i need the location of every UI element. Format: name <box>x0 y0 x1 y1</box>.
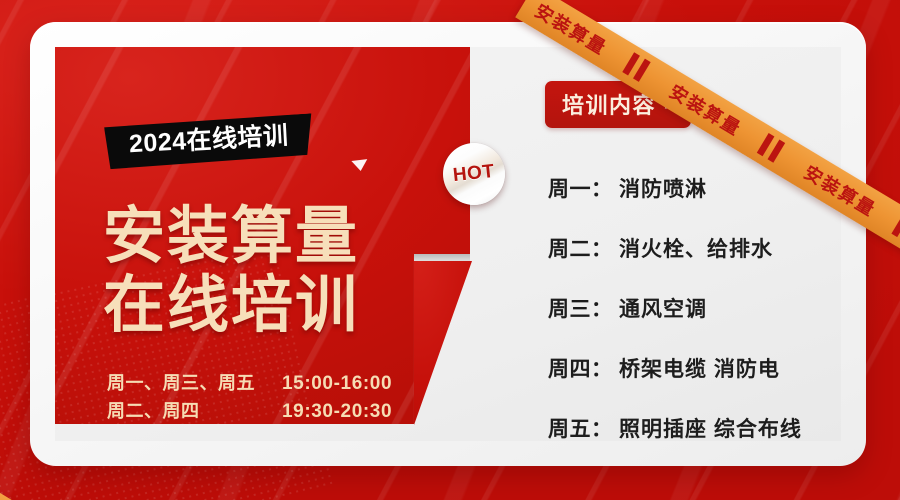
content-heading-label: 培训内容 <box>562 88 656 120</box>
topic-separator: ： <box>591 353 612 383</box>
topic-day: 周三 <box>548 293 591 323</box>
double-chevron-right-icon: » <box>664 94 675 114</box>
schedule-days: 周二、周四 <box>107 402 282 420</box>
schedule-row: 周二、周四 19:30-20:30 <box>107 402 457 421</box>
ribbon-bars-icon: ▌▌ <box>891 215 900 247</box>
topic-day: 周四 <box>548 353 591 383</box>
topic-separator: ： <box>591 233 612 263</box>
topic-day: 周二 <box>548 233 591 263</box>
topic-title: 消防喷淋 <box>619 173 707 203</box>
schedule-block: 周一、周三、周五 15:00-16:00 周二、周四 19:30-20:30 <box>107 374 457 430</box>
topic-separator: ： <box>591 413 612 441</box>
triangle-marker-icon <box>351 159 368 172</box>
topic-title: 照明插座 综合布线 <box>619 413 802 441</box>
main-card: 2024在线培训 安装算量 在线培训 周一、周三、周五 15:00-16:00 … <box>30 22 866 466</box>
banner-stage: 2024在线培训 安装算量 在线培训 周一、周三、周五 15:00-16:00 … <box>0 0 900 500</box>
list-item: 周四 ： 桥架电缆 消防电 <box>548 353 838 413</box>
list-item: 周一 ： 消防喷淋 <box>548 173 838 233</box>
topic-day: 周五 <box>548 413 591 441</box>
schedule-days: 周一、周三、周五 <box>107 374 282 392</box>
topic-separator: ： <box>591 293 612 323</box>
headline-line-1: 安装算量 <box>103 202 433 271</box>
topic-title: 桥架电缆 消防电 <box>619 353 780 383</box>
schedule-time: 15:00-16:00 <box>282 374 392 393</box>
list-item: 周五 ： 照明插座 综合布线 <box>548 413 838 441</box>
content-column: 培训内容 » 周一 ： 消防喷淋 周二 ： 消火栓、给排水 周三 <box>470 47 841 441</box>
topic-title: 通风空调 <box>619 293 707 323</box>
year-tag-label: 2024在线培训 <box>128 122 289 159</box>
list-item: 周三 ： 通风空调 <box>548 293 838 353</box>
topic-list: 周一 ： 消防喷淋 周二 ： 消火栓、给排水 周三 ： 通风空调 <box>548 173 838 441</box>
schedule-row: 周一、周三、周五 15:00-16:00 <box>107 374 457 393</box>
list-item: 周二 ： 消火栓、给排水 <box>548 233 838 293</box>
headline: 安装算量 在线培训 <box>103 202 433 341</box>
ribbon-bars-icon: ▌▌ <box>0 495 10 500</box>
topic-day: 周一 <box>548 173 591 203</box>
card-inner-surface: 2024在线培训 安装算量 在线培训 周一、周三、周五 15:00-16:00 … <box>55 47 841 441</box>
schedule-time: 19:30-20:30 <box>282 402 392 421</box>
content-heading-badge: 培训内容 » <box>545 81 691 128</box>
topic-title: 消火栓、给排水 <box>619 233 773 263</box>
topic-separator: ： <box>591 173 612 203</box>
headline-line-2: 在线培训 <box>103 271 433 340</box>
